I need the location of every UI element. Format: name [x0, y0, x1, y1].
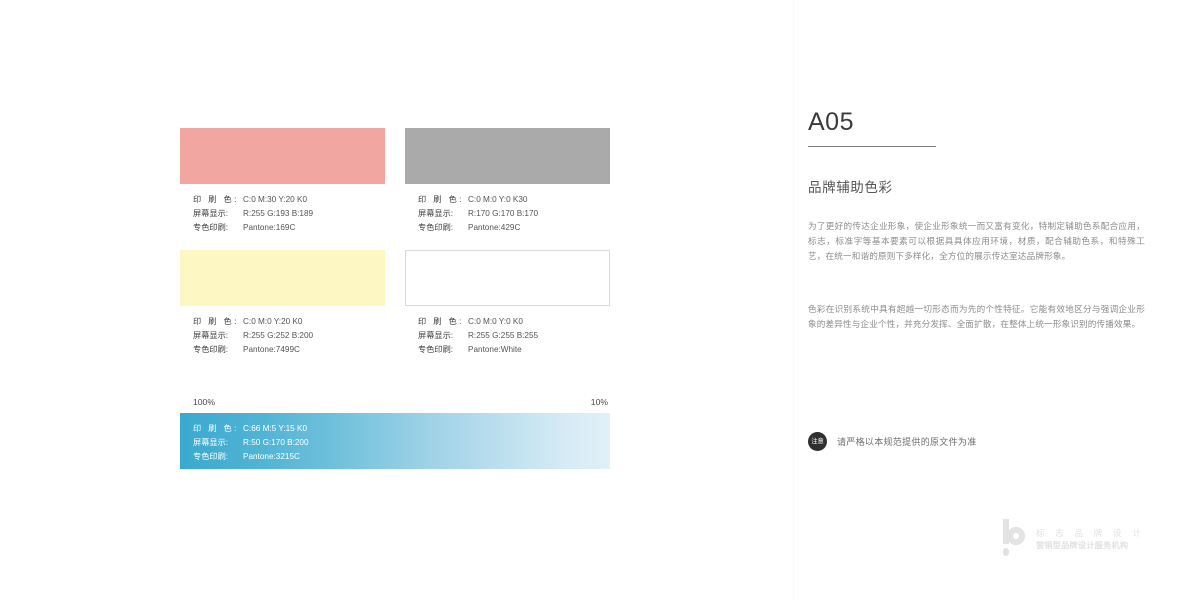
spec-line-spot: 专色印刷: Pantone:7499C [193, 343, 385, 357]
spec-line-screen: 屏幕显示: R:255 G:252 B:200 [193, 329, 385, 343]
swatch-specs-white: 印 刷 色: C:0 M:0 Y:0 K0 屏幕显示: R:255 G:255 … [405, 315, 610, 358]
gradient-swatch-block: 100% 10% 印 刷 色: C:66 M:5 Y:15 K0 屏幕显示: R… [180, 396, 610, 469]
spec-line-print: 印 刷 色: C:0 M:0 Y:20 K0 [193, 315, 385, 329]
page-title: 品牌辅助色彩 [808, 178, 893, 198]
spec-key: 专色印刷: [418, 343, 468, 357]
spec-line-print: 印 刷 色: C:0 M:0 Y:0 K30 [418, 193, 610, 207]
spec-key: 印 刷 色: [418, 315, 468, 329]
spec-value: C:66 M:5 Y:15 K0 [243, 422, 307, 436]
swatch-specs-gradient: 印 刷 色: C:66 M:5 Y:15 K0 屏幕显示: R:50 G:170… [193, 422, 309, 465]
swatch-cell-pink: 印 刷 色: C:0 M:30 Y:20 K0 屏幕显示: R:255 G:19… [180, 128, 385, 236]
brand-footer: 标 志 品 牌 设 计 营销型品牌设计服务机构 [1003, 519, 1145, 559]
swatch-cell-white: 印 刷 色: C:0 M:0 Y:0 K0 屏幕显示: R:255 G:255 … [405, 250, 610, 358]
spec-value: C:0 M:0 Y:20 K0 [243, 315, 302, 329]
swatch-cell-cream: 印 刷 色: C:0 M:0 Y:20 K0 屏幕显示: R:255 G:252… [180, 250, 385, 358]
color-swatch-area: 印 刷 色: C:0 M:30 Y:20 K0 屏幕显示: R:255 G:19… [180, 128, 610, 357]
spec-key: 屏幕显示: [193, 207, 243, 221]
page-code: A05 [808, 108, 854, 136]
note-row: 注意 请严格以本规范提供的原文件为准 [808, 432, 977, 451]
gradient-scale-left: 100% [193, 396, 215, 408]
spec-line-screen: 屏幕显示: R:255 G:255 B:255 [418, 329, 610, 343]
panel-divider [793, 0, 794, 600]
spec-key: 印 刷 色: [193, 193, 243, 207]
logo-dot [1003, 548, 1009, 556]
spec-key: 屏幕显示: [193, 329, 243, 343]
brand-tagline-secondary: 营销型品牌设计服务机构 [1036, 540, 1145, 552]
note-text: 请严格以本规范提供的原文件为准 [837, 435, 977, 449]
spec-key: 专色印刷: [193, 343, 243, 357]
spec-value: Pantone:7499C [243, 343, 300, 357]
color-chip-cream [180, 250, 385, 306]
logo-bowl [1007, 527, 1025, 545]
spec-value: Pantone:White [468, 343, 522, 357]
spec-value: Pantone:429C [468, 221, 520, 235]
spec-value: R:255 G:193 B:189 [243, 207, 313, 221]
spec-key: 屏幕显示: [418, 207, 468, 221]
spec-line-screen: 屏幕显示: R:255 G:193 B:189 [193, 207, 385, 221]
spec-key: 专色印刷: [193, 450, 243, 464]
note-badge: 注意 [808, 432, 827, 451]
swatch-specs-pink: 印 刷 色: C:0 M:30 Y:20 K0 屏幕显示: R:255 G:19… [180, 193, 385, 236]
swatch-specs-cream: 印 刷 色: C:0 M:0 Y:20 K0 屏幕显示: R:255 G:252… [180, 315, 385, 358]
brand-text: 标 志 品 牌 设 计 营销型品牌设计服务机构 [1036, 527, 1145, 552]
spec-key: 屏幕显示: [418, 329, 468, 343]
swatch-specs-gray: 印 刷 色: C:0 M:0 Y:0 K30 屏幕显示: R:170 G:170… [405, 193, 610, 236]
spec-line-print: 印 刷 色: C:66 M:5 Y:15 K0 [193, 422, 309, 436]
page-canvas: 印 刷 色: C:0 M:30 Y:20 K0 屏幕显示: R:255 G:19… [0, 0, 1200, 600]
spec-key: 专色印刷: [418, 221, 468, 235]
spec-key: 印 刷 色: [193, 422, 243, 436]
spec-key: 专色印刷: [193, 221, 243, 235]
color-chip-white [405, 250, 610, 306]
brand-b-logo-icon [1003, 519, 1029, 559]
spec-line-screen: 屏幕显示: R:170 G:170 B:170 [418, 207, 610, 221]
description-panel: A05 品牌辅助色彩 为了更好的传达企业形象，使企业形象统一而又富有变化，特制定… [808, 0, 1148, 600]
spec-line-spot: 专色印刷: Pantone:White [418, 343, 610, 357]
description-paragraph-2: 色彩在识别系统中具有超越一切形态而为先的个性特征。它能有效地区分与强调企业形象的… [808, 302, 1145, 332]
spec-key: 印 刷 色: [418, 193, 468, 207]
color-chip-pink [180, 128, 385, 184]
spec-line-spot: 专色印刷: Pantone:429C [418, 221, 610, 235]
gradient-scale-labels: 100% 10% [180, 396, 610, 408]
spec-key: 印 刷 色: [193, 315, 243, 329]
spec-value: C:0 M:30 Y:20 K0 [243, 193, 307, 207]
swatch-cell-gray: 印 刷 色: C:0 M:0 Y:0 K30 屏幕显示: R:170 G:170… [405, 128, 610, 236]
spec-value: Pantone:3215C [243, 450, 300, 464]
color-swatch-grid: 印 刷 色: C:0 M:30 Y:20 K0 屏幕显示: R:255 G:19… [180, 128, 610, 357]
color-chip-gray [405, 128, 610, 184]
color-chip-gradient: 印 刷 色: C:66 M:5 Y:15 K0 屏幕显示: R:50 G:170… [180, 413, 610, 469]
spec-key: 屏幕显示: [193, 436, 243, 450]
gradient-scale-right: 10% [591, 396, 608, 408]
spec-value: C:0 M:0 Y:0 K0 [468, 315, 523, 329]
brand-tagline-primary: 标 志 品 牌 设 计 [1036, 527, 1145, 540]
spec-value: R:50 G:170 B:200 [243, 436, 309, 450]
spec-line-print: 印 刷 色: C:0 M:0 Y:0 K0 [418, 315, 610, 329]
spec-line-print: 印 刷 色: C:0 M:30 Y:20 K0 [193, 193, 385, 207]
spec-line-screen: 屏幕显示: R:50 G:170 B:200 [193, 436, 309, 450]
spec-value: R:255 G:252 B:200 [243, 329, 313, 343]
spec-value: R:255 G:255 B:255 [468, 329, 538, 343]
page-code-rule [808, 146, 936, 147]
spec-value: C:0 M:0 Y:0 K30 [468, 193, 527, 207]
spec-line-spot: 专色印刷: Pantone:169C [193, 221, 385, 235]
description-paragraph-1: 为了更好的传达企业形象，使企业形象统一而又富有变化，特制定辅助色系配合应用，标志… [808, 219, 1145, 264]
spec-line-spot: 专色印刷: Pantone:3215C [193, 450, 309, 464]
spec-value: Pantone:169C [243, 221, 295, 235]
spec-value: R:170 G:170 B:170 [468, 207, 538, 221]
